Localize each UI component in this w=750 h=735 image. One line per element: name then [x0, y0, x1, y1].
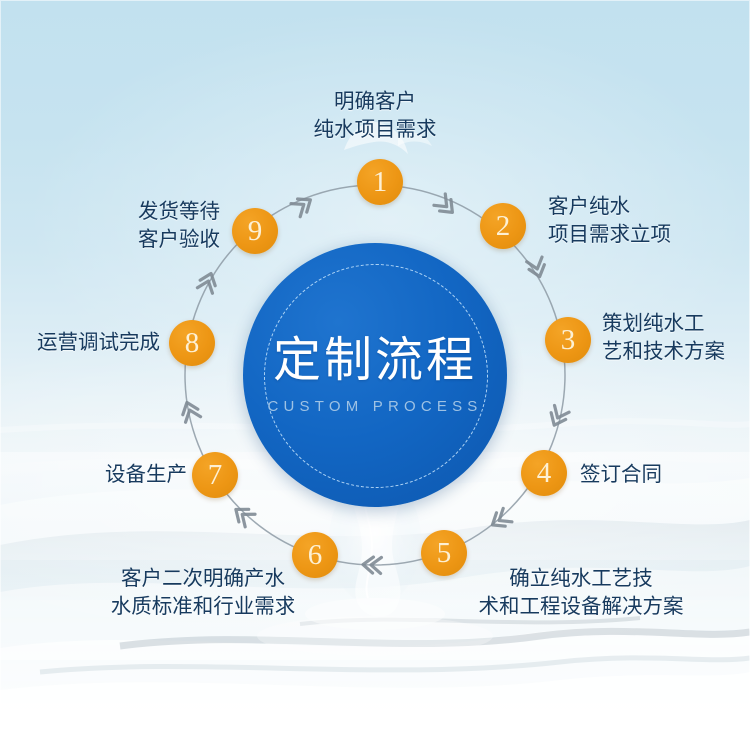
step-label-7: 设备生产	[72, 461, 187, 489]
step-label-line: 策划纯水工	[602, 310, 750, 338]
step-label-line: 运营调试完成	[8, 329, 160, 357]
step-label-line: 项目需求立项	[548, 221, 748, 249]
center-disc: 定制流程 CUSTOM PROCESS	[243, 243, 507, 507]
chevron-arrow-icon	[527, 257, 548, 279]
chevron-arrow-icon	[291, 193, 315, 216]
step-label-line: 发货等待	[95, 198, 220, 226]
step-label-8: 运营调试完成	[8, 329, 160, 357]
step-label-line: 艺和技术方案	[602, 338, 750, 366]
step-label-line: 客户二次明确产水	[68, 565, 338, 593]
step-label-line: 术和工程设备解决方案	[436, 593, 726, 621]
step-label-line: 客户验收	[95, 226, 220, 254]
step-label-line: 明确客户	[275, 88, 475, 116]
step-label-6: 客户二次明确产水水质标准和行业需求	[68, 565, 338, 622]
center-subtitle: CUSTOM PROCESS	[267, 399, 482, 414]
center-title: 定制流程	[273, 337, 477, 385]
step-badge-3[interactable]: 3	[545, 317, 591, 363]
step-label-line: 设备生产	[72, 461, 187, 489]
step-badge-4[interactable]: 4	[521, 450, 567, 496]
step-label-line: 水质标准和行业需求	[68, 593, 338, 621]
step-label-3: 策划纯水工艺和技术方案	[602, 310, 750, 367]
step-label-4: 签订合同	[580, 461, 740, 489]
step-badge-7[interactable]: 7	[192, 452, 238, 498]
infographic-poster: 定制流程 CUSTOM PROCESS 1明确客户纯水项目需求2客户纯水项目需求…	[0, 0, 750, 735]
step-badge-8[interactable]: 8	[169, 320, 215, 366]
chevron-arrow-icon	[231, 503, 255, 527]
step-badge-1[interactable]: 1	[357, 159, 403, 205]
chevron-arrow-icon	[488, 508, 512, 531]
step-label-line: 确立纯水工艺技	[436, 565, 726, 593]
step-label-2: 客户纯水项目需求立项	[548, 193, 748, 250]
step-label-line: 签订合同	[580, 461, 740, 489]
chevron-arrow-icon	[434, 194, 458, 218]
step-badge-9[interactable]: 9	[232, 208, 278, 254]
step-label-5: 确立纯水工艺技术和工程设备解决方案	[436, 565, 726, 622]
chevron-arrow-icon	[197, 271, 218, 293]
step-label-9: 发货等待客户验收	[95, 198, 220, 255]
step-label-line: 客户纯水	[548, 193, 748, 221]
step-label-line: 纯水项目需求	[275, 116, 475, 144]
step-label-1: 明确客户纯水项目需求	[275, 88, 475, 145]
step-badge-2[interactable]: 2	[480, 203, 526, 249]
